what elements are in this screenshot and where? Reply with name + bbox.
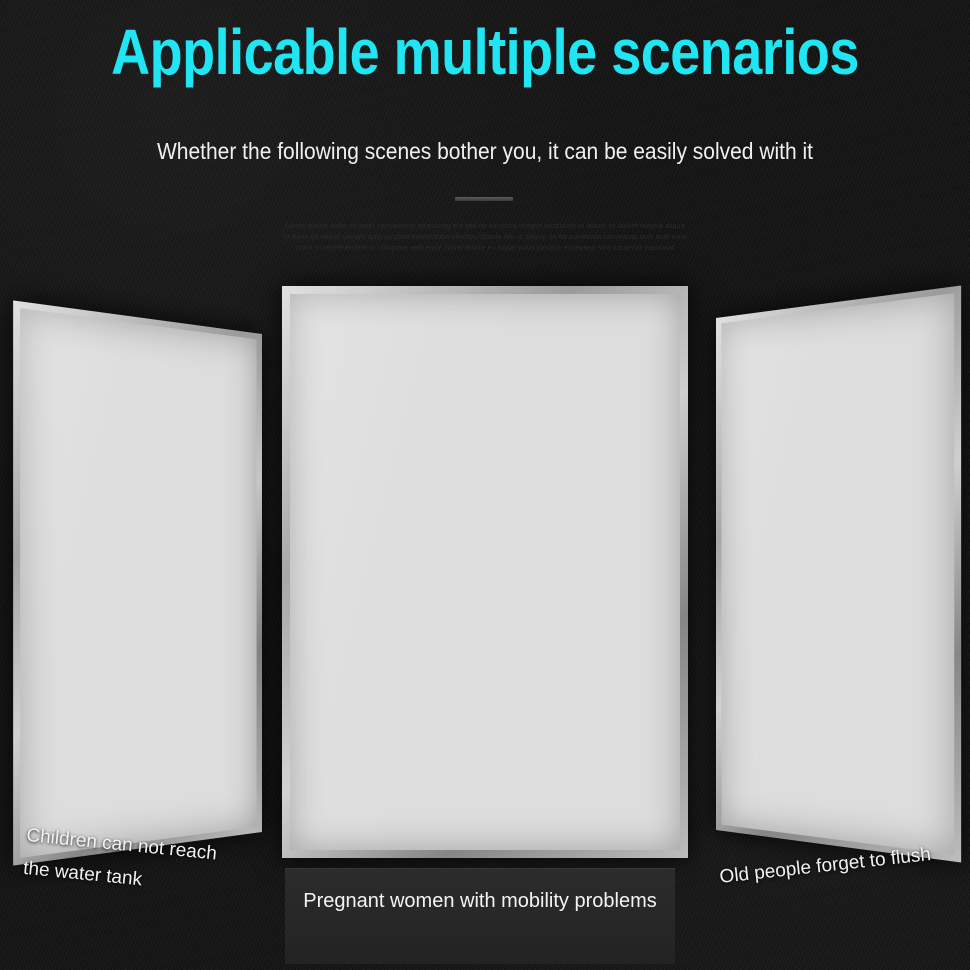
- scenario-panel-center: [282, 286, 688, 858]
- photo-vignette: [290, 294, 680, 850]
- page-title: Applicable multiple scenarios: [0, 16, 970, 89]
- title-divider: [455, 197, 513, 201]
- photo-elderly-person-crouching-outdoors: [721, 293, 954, 855]
- page-subtitle: Whether the following scenes bother you,…: [0, 139, 970, 166]
- photo-vignette: [721, 293, 954, 855]
- photo-pregnant-woman-seated-on-toilet: [290, 294, 680, 850]
- scenario-panel-left: [13, 300, 262, 865]
- scenario-panel-right: [716, 285, 961, 862]
- caption-right: Old people forget to flush: [718, 839, 933, 894]
- fine-print-line-2: Ut enim ad minim veniam quis nostrud exe…: [0, 233, 970, 244]
- fine-print-line-3: Dolor in reprehenderit in voluptate veli…: [0, 244, 970, 255]
- caption-center: Pregnant women with mobility problems: [285, 890, 675, 913]
- photo-vignette: [20, 308, 257, 858]
- caption-center-backdrop: Pregnant women with mobility problems: [285, 868, 675, 964]
- photo-toddler-reaching-toilet-tank: [20, 308, 257, 858]
- fine-print-block: Lorem ipsum dolor sit amet consectetur a…: [0, 222, 970, 255]
- fine-print-line-1: Lorem ipsum dolor sit amet consectetur a…: [0, 222, 970, 233]
- promo-poster: Applicable multiple scenarios Whether th…: [0, 0, 970, 970]
